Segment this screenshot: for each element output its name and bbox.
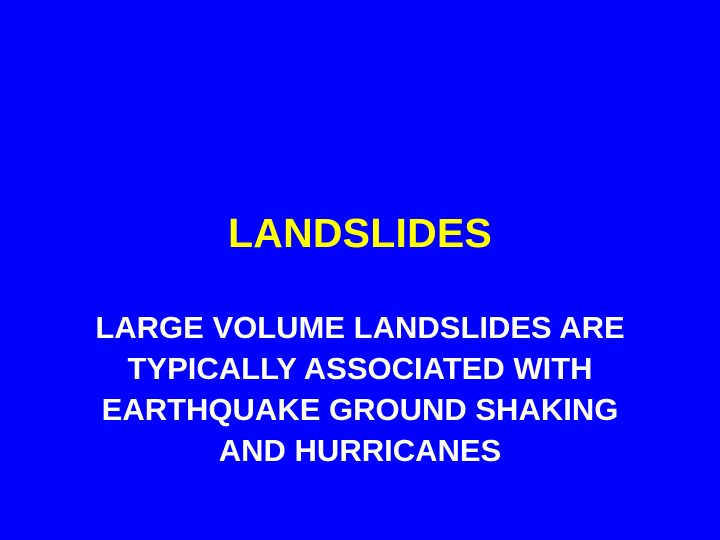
presentation-slide: LANDSLIDES LARGE VOLUME LANDSLIDES ARE T… — [0, 0, 720, 540]
body-line: LARGE VOLUME LANDSLIDES ARE — [40, 307, 680, 348]
body-line: EARTHQUAKE GROUND SHAKING — [40, 389, 680, 430]
body-line: TYPICALLY ASSOCIATED WITH — [40, 348, 680, 389]
body-line: AND HURRICANES — [40, 430, 680, 471]
slide-body-text: LARGE VOLUME LANDSLIDES ARE TYPICALLY AS… — [40, 307, 680, 471]
slide-title: LANDSLIDES — [0, 210, 720, 256]
